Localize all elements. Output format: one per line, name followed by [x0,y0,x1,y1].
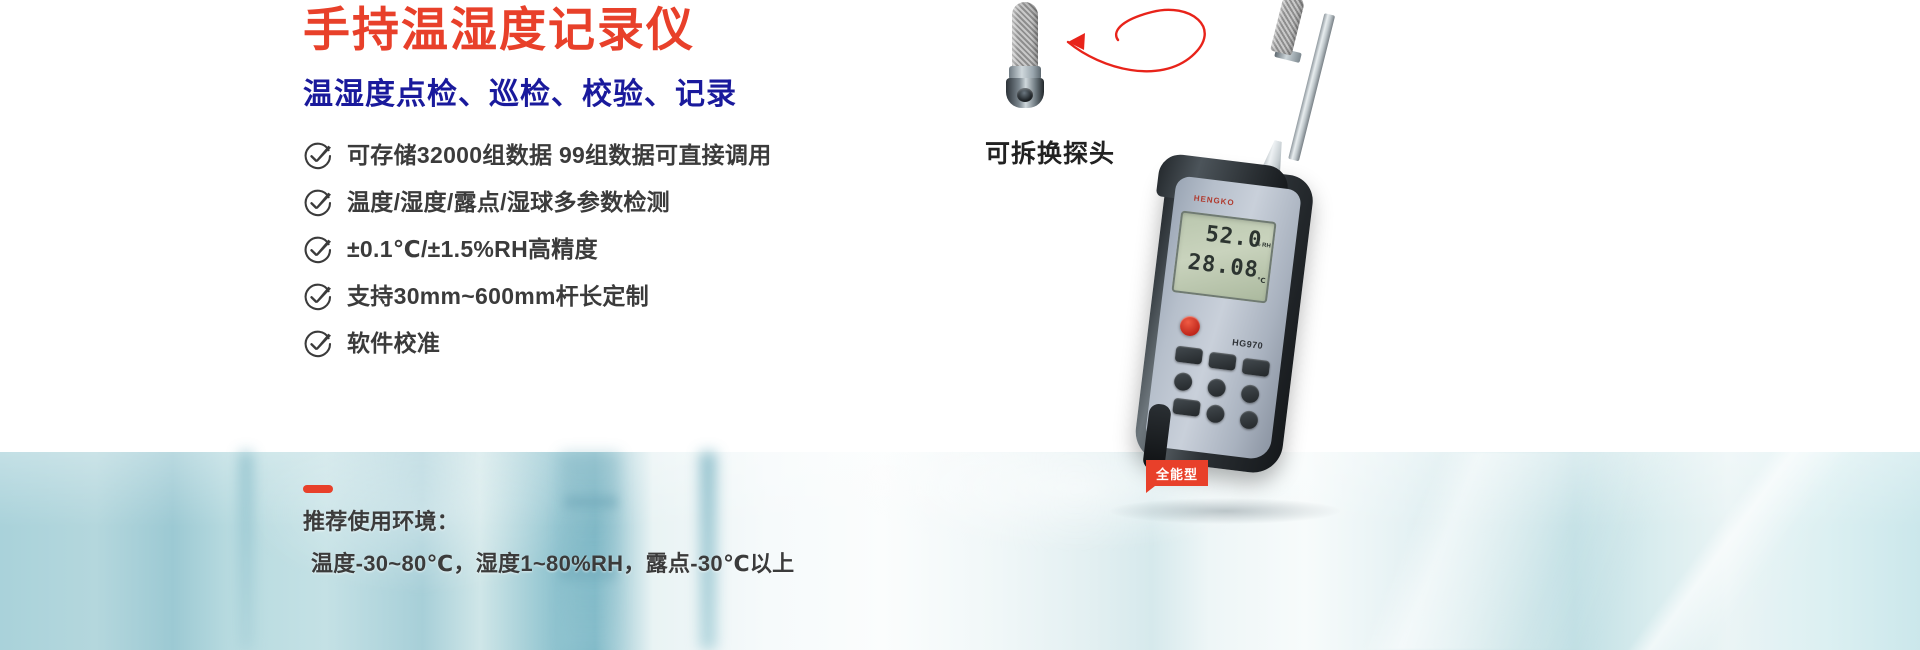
keypad-button[interactable] [1173,372,1193,392]
list-item: 可存储32000组数据 99组数据可直接调用 [303,132,953,179]
red-dash-divider [303,485,333,493]
lcd-temperature-value: 28.08 [1186,250,1260,283]
probe-mesh-filter [1012,2,1038,70]
keypad-button[interactable] [1175,346,1204,365]
copy-block: 手持温湿度记录仪 温湿度点检、巡检、校验、记录 可存储32000组数据 99组数… [0,0,960,650]
status-badge: 全能型 [1146,460,1208,486]
circle-check-icon [303,235,333,265]
background-glass-highlight [1500,452,1920,650]
list-item: 温度/湿度/露点/湿球多参数检测 [303,179,953,226]
product-banner: 手持温湿度记录仪 温湿度点检、巡检、校验、记录 可存储32000组数据 99组数… [0,0,1920,650]
circle-check-icon [303,282,333,312]
list-item-label: ±0.1℃/±1.5%RH高精度 [347,238,598,261]
lcd-humidity-value: 52.0 [1204,222,1264,254]
list-item-label: 温度/湿度/露点/湿球多参数检测 [347,191,670,214]
circle-check-icon [303,188,333,218]
page-title: 手持温湿度记录仪 [303,6,695,53]
probe-rod-mesh-tip [1270,0,1306,56]
list-item: 软件校准 [303,320,953,367]
keypad-button[interactable] [1208,352,1237,371]
environment-title: 推荐使用环境： [303,511,943,533]
keypad-button[interactable] [1242,358,1271,377]
page-subtitle: 温湿度点检、巡检、校验、记录 [303,80,737,110]
probe-connector-port [1017,88,1033,102]
keypad [1160,345,1291,459]
device-shadow [1110,498,1340,524]
lcd-temperature-unit: ℃ [1256,276,1265,285]
handheld-meter-image: HENGKO 52.0 % RH 28.08 ℃ HG970 [1080,0,1380,520]
lcd-screen: 52.0 % RH 28.08 ℃ [1171,210,1276,303]
list-item-label: 可存储32000组数据 99组数据可直接调用 [347,144,772,167]
keypad-button[interactable] [1172,398,1201,417]
list-item-label: 支持30mm~600mm杆长定制 [347,285,649,308]
keypad-button[interactable] [1239,410,1259,430]
list-item: ±0.1℃/±1.5%RH高精度 [303,226,953,273]
circle-check-icon [303,329,333,359]
keypad-button[interactable] [1207,378,1227,398]
list-item-label: 软件校准 [347,332,440,355]
list-item: 支持30mm~600mm杆长定制 [303,273,953,320]
environment-block: 推荐使用环境： 温度-30~80℃，湿度1~80%RH，露点-30℃以上 [303,485,943,575]
keypad-button[interactable] [1205,404,1225,424]
keypad-button[interactable] [1240,384,1260,404]
circle-check-icon [303,141,333,171]
environment-spec: 温度-30~80℃，湿度1~80%RH，露点-30℃以上 [303,553,943,575]
feature-list: 可存储32000组数据 99组数据可直接调用 温度/湿度/露点/湿球多参数检测 [303,132,953,367]
